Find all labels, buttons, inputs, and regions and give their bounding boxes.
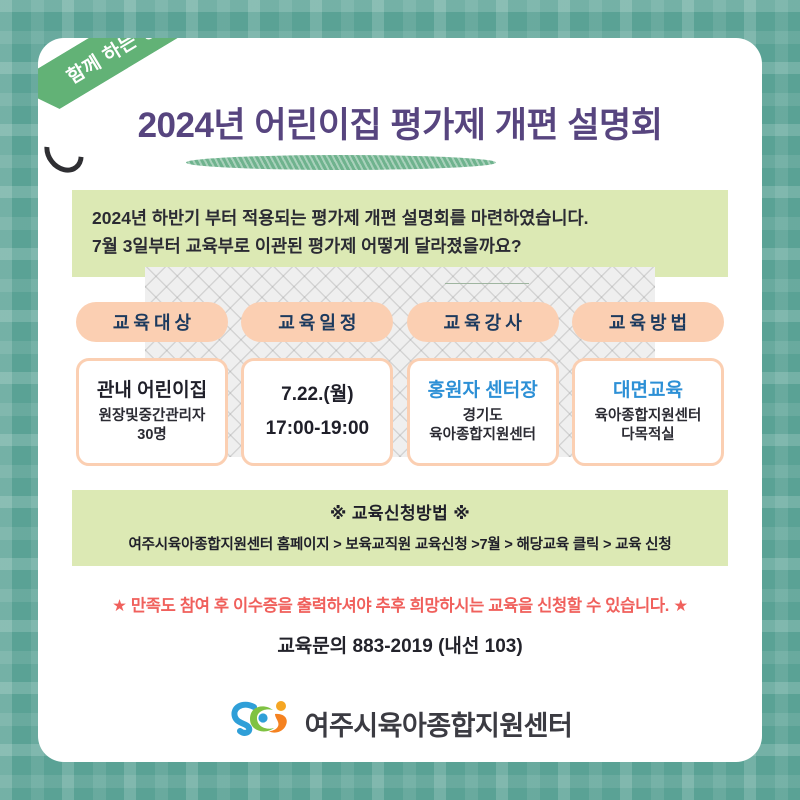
description-line-1: 2024년 하반기 부터 적용되는 평가제 개편 설명회를 마련하였습니다. bbox=[92, 204, 728, 232]
notice-line: ★ 만족도 참여 후 이수증을 출력하셔야 추후 희망하시는 교육을 신청할 수… bbox=[38, 592, 762, 616]
info-card-instructor: 홍원자 센터장 경기도 육아종합지원센터 bbox=[407, 358, 559, 466]
organization-logo-icon bbox=[228, 700, 294, 747]
card-subtext-line-1: 원장및중간관리자 bbox=[99, 407, 206, 426]
contact-line: 교육문의 883-2019 (내선 103) bbox=[38, 631, 762, 658]
pill-education-target: 교육대상 bbox=[76, 302, 228, 342]
info-card-method: 대면교육 육아종합지원센터 다목적실 bbox=[572, 358, 724, 466]
card-subtext-line-2: 다목적실 bbox=[595, 426, 702, 445]
page-title: 2024년 어린이집 평가제 개편 설명회 bbox=[0, 97, 800, 148]
title-underline-swoosh bbox=[186, 155, 496, 170]
ribbon-label: 함께 하는 평가제 bbox=[61, 38, 193, 89]
card-subtext-line-1: 경기도 bbox=[429, 407, 536, 426]
description-band: 2024년 하반기 부터 적용되는 평가제 개편 설명회를 마련하였습니다. 7… bbox=[72, 190, 728, 277]
card-subtext-line-2: 육아종합지원센터 bbox=[429, 426, 536, 445]
card-subtext-line-2: 30명 bbox=[99, 426, 206, 445]
card-time: 17:00-19:00 bbox=[266, 412, 370, 446]
rule-line bbox=[445, 283, 529, 284]
info-card-target: 관내 어린이집 원장및중간관리자 30명 bbox=[76, 358, 228, 466]
apply-title: ※ 교육신청방법 ※ bbox=[72, 499, 728, 524]
apply-path: 여주시육아종합지원센터 홈페이지 > 보육교직원 교육신청 >7월 > 해당교육… bbox=[72, 533, 728, 554]
card-heading: 관내 어린이집 bbox=[97, 379, 207, 403]
card-subtext: 육아종합지원센터 다목적실 bbox=[595, 407, 702, 445]
pill-label: 교육대상 bbox=[109, 309, 195, 335]
card-date: 7.22.(월) bbox=[281, 378, 353, 412]
card-subtext: 원장및중간관리자 30명 bbox=[99, 407, 206, 445]
card-subtext: 경기도 육아종합지원센터 bbox=[429, 407, 536, 445]
pill-education-method: 교육방법 bbox=[572, 302, 724, 342]
pill-education-instructor: 교육강사 bbox=[407, 302, 559, 342]
card-subtext-line-1: 육아종합지원센터 bbox=[595, 407, 702, 426]
card-heading: 홍원자 센터장 bbox=[428, 379, 538, 403]
info-cards-row: 관내 어린이집 원장및중간관리자 30명 7.22.(월) 17:00-19:0… bbox=[76, 358, 724, 466]
pills-row: 교육대상 교육일정 교육강사 교육방법 bbox=[76, 302, 724, 342]
pill-label: 교육강사 bbox=[440, 309, 526, 335]
apply-method-band: ※ 교육신청방법 ※ 여주시육아종합지원센터 홈페이지 > 보육교직원 교육신청… bbox=[72, 490, 728, 566]
info-card-schedule: 7.22.(월) 17:00-19:00 bbox=[241, 358, 393, 466]
card-heading: 대면교육 bbox=[613, 379, 683, 403]
organization-name: 여주시육아종합지원센터 bbox=[305, 704, 573, 743]
pill-label: 교육일정 bbox=[274, 309, 360, 335]
pill-education-schedule: 교육일정 bbox=[241, 302, 393, 342]
footer-logo: 여주시육아종합지원센터 bbox=[38, 700, 762, 747]
description-line-2: 7월 3일부터 교육부로 이관된 평가제 어떻게 달라졌을까요? bbox=[92, 232, 728, 260]
pill-label: 교육방법 bbox=[605, 309, 691, 335]
